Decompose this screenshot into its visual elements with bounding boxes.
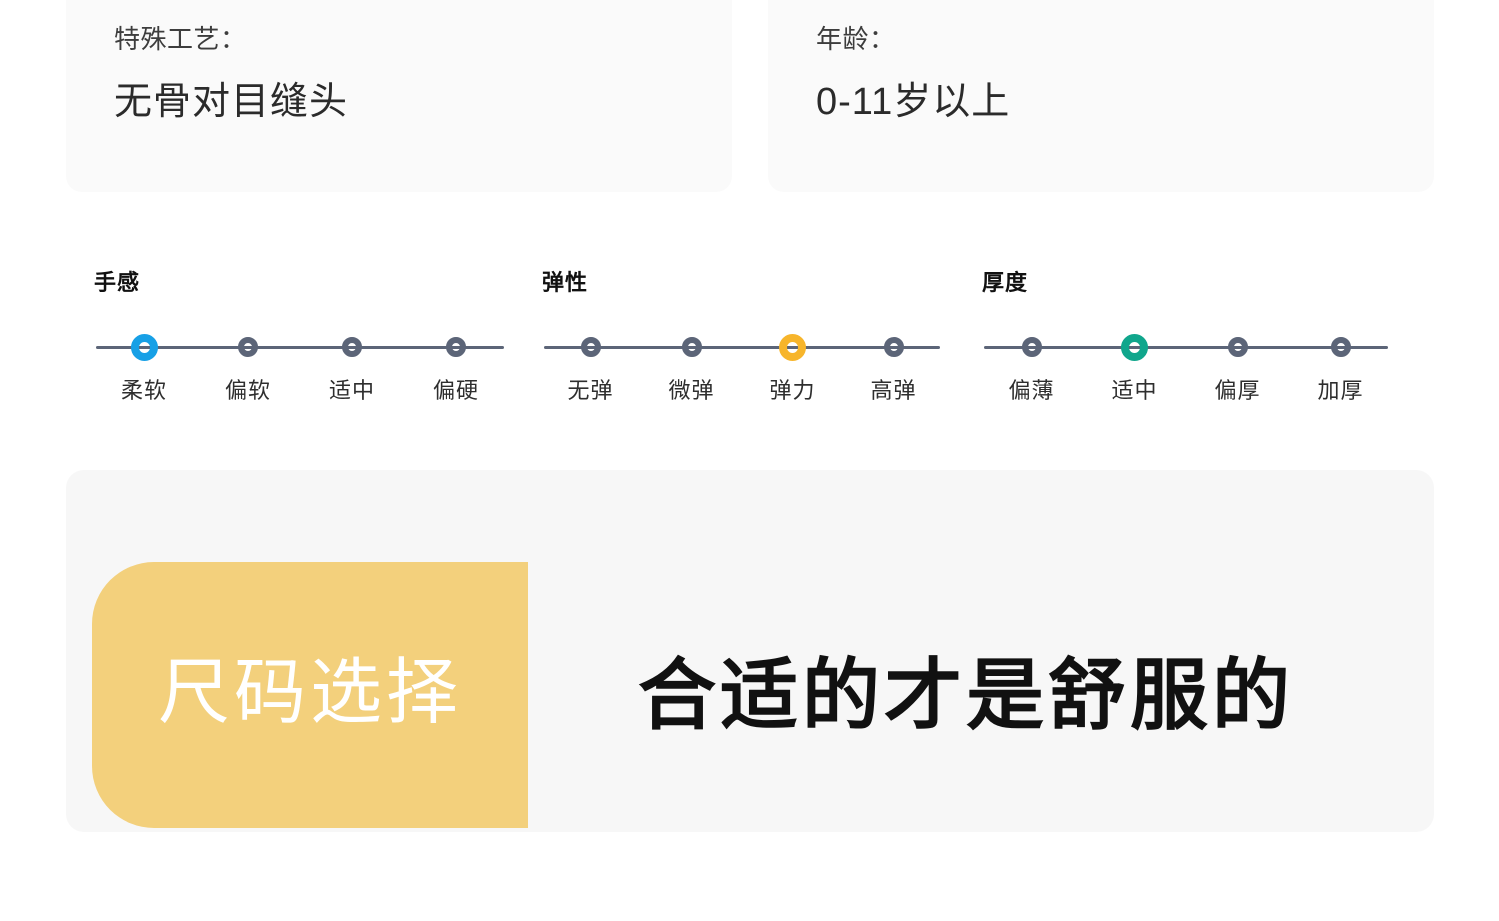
scale-option-label: 偏薄 xyxy=(980,378,1083,404)
scale-track-thickness xyxy=(980,332,1392,362)
scale-option-label: 偏软 xyxy=(196,378,300,404)
scale-track-handfeel xyxy=(92,332,508,362)
scale-option-label: 偏厚 xyxy=(1186,378,1289,404)
scale-option-label: 柔软 xyxy=(92,378,196,404)
scale-title-handfeel: 手感 xyxy=(92,272,508,294)
scale-option-label: 偏硬 xyxy=(404,378,508,404)
scale-dot-cell[interactable] xyxy=(843,332,944,362)
scale-group-handfeel: 手感 柔软 偏软 适中 偏硬 xyxy=(92,272,508,432)
scale-dot-cell[interactable] xyxy=(1186,332,1289,362)
info-card-age-label: 年龄： xyxy=(816,24,1434,55)
scale-dot-cell[interactable] xyxy=(1083,332,1186,362)
scale-dot-cell[interactable] xyxy=(980,332,1083,362)
scale-group-elasticity: 弹性 无弹 微弹 弹力 高弹 xyxy=(540,272,944,432)
scale-labels-elasticity: 无弹 微弹 弹力 高弹 xyxy=(540,378,944,404)
scale-option-label: 适中 xyxy=(300,378,404,404)
scale-track-elasticity xyxy=(540,332,944,362)
scale-dot-cell[interactable] xyxy=(540,332,641,362)
scale-dot-icon[interactable] xyxy=(1022,337,1042,357)
scale-option-label: 高弹 xyxy=(843,378,944,404)
scale-dot-cell[interactable] xyxy=(300,332,404,362)
info-card-craft-value: 无骨对目缝头 xyxy=(114,79,732,127)
scale-dot-cell[interactable] xyxy=(196,332,300,362)
scale-dot-icon[interactable] xyxy=(682,337,702,357)
scale-dot-icon[interactable] xyxy=(131,334,158,361)
scale-dots-handfeel xyxy=(92,332,508,362)
scale-labels-handfeel: 柔软 偏软 适中 偏硬 xyxy=(92,378,508,404)
scale-dots-elasticity xyxy=(540,332,944,362)
scale-dot-icon[interactable] xyxy=(238,337,258,357)
scale-labels-thickness: 偏薄 适中 偏厚 加厚 xyxy=(980,378,1392,404)
size-selection-badge-label: 尺码选择 xyxy=(158,657,462,729)
scale-dot-icon[interactable] xyxy=(342,337,362,357)
scale-dot-icon[interactable] xyxy=(884,337,904,357)
size-selection-banner: 尺码选择 合适的才是舒服的 xyxy=(66,470,1434,832)
attribute-scale-row: 手感 柔软 偏软 适中 偏硬 xyxy=(0,272,1499,432)
info-card-age-value: 0-11岁以上 xyxy=(816,79,1434,127)
scale-dot-cell[interactable] xyxy=(404,332,508,362)
scale-dot-icon[interactable] xyxy=(1228,337,1248,357)
scale-dot-cell[interactable] xyxy=(1289,332,1392,362)
scale-dot-icon[interactable] xyxy=(1331,337,1351,357)
info-card-row: 特殊工艺： 无骨对目缝头 年龄： 0-11岁以上 xyxy=(66,0,1434,192)
scale-dot-icon[interactable] xyxy=(779,334,806,361)
info-card-craft: 特殊工艺： 无骨对目缝头 xyxy=(66,0,732,192)
scale-dot-cell[interactable] xyxy=(742,332,843,362)
scale-dot-cell[interactable] xyxy=(92,332,196,362)
scale-dots-thickness xyxy=(980,332,1392,362)
size-selection-headline-text: 合适的才是舒服的 xyxy=(638,656,1294,734)
scale-dot-icon[interactable] xyxy=(1121,334,1148,361)
info-card-craft-label: 特殊工艺： xyxy=(114,24,732,55)
scale-title-thickness: 厚度 xyxy=(980,272,1392,294)
scale-dot-icon[interactable] xyxy=(446,337,466,357)
info-card-age: 年龄： 0-11岁以上 xyxy=(768,0,1434,192)
scale-option-label: 适中 xyxy=(1083,378,1186,404)
size-selection-badge: 尺码选择 xyxy=(92,562,528,828)
scale-group-thickness: 厚度 偏薄 适中 偏厚 加厚 xyxy=(980,272,1392,432)
scale-option-label: 无弹 xyxy=(540,378,641,404)
scale-option-label: 加厚 xyxy=(1289,378,1392,404)
size-selection-headline: 合适的才是舒服的 xyxy=(638,562,1294,828)
scale-option-label: 微弹 xyxy=(641,378,742,404)
scale-option-label: 弹力 xyxy=(742,378,843,404)
scale-dot-icon[interactable] xyxy=(581,337,601,357)
scale-title-elasticity: 弹性 xyxy=(540,272,944,294)
scale-dot-cell[interactable] xyxy=(641,332,742,362)
